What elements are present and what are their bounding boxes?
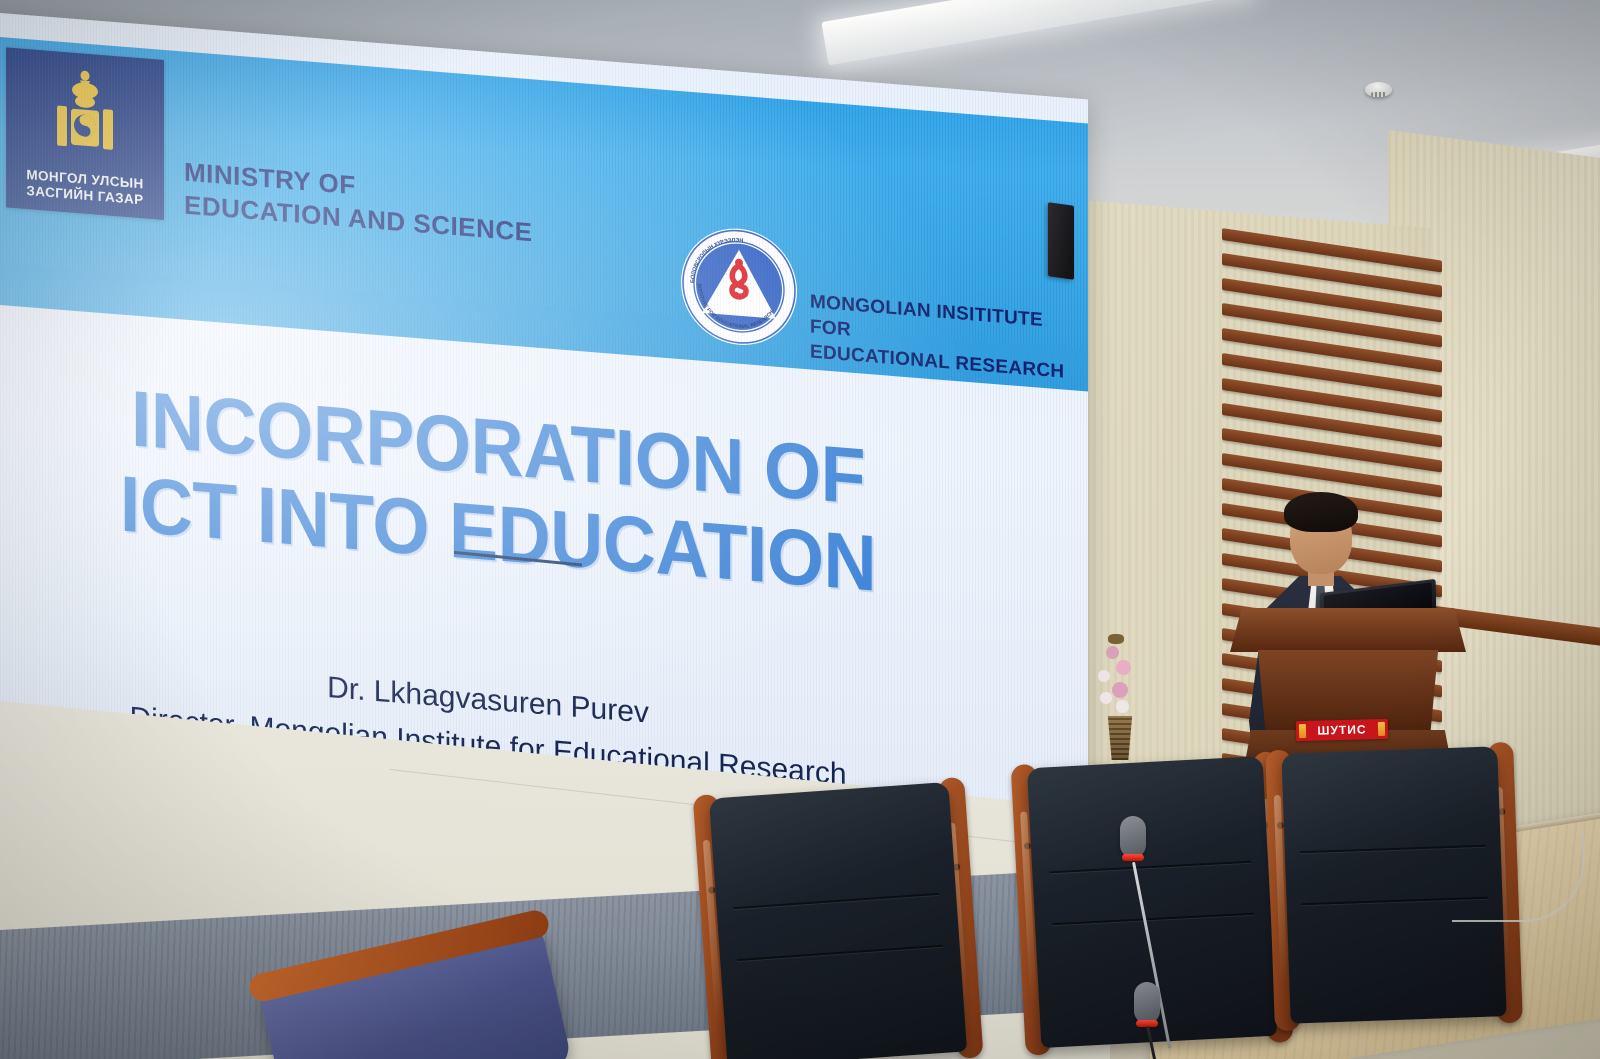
loudspeaker-icon bbox=[1048, 202, 1074, 280]
government-emblem-box: МОНГОЛ УЛСЫН ЗАСГИЙН ГАЗАР bbox=[6, 47, 164, 220]
podium-plate-label: ШУТИС bbox=[1317, 722, 1367, 737]
microphone-indicator-ring bbox=[1122, 854, 1144, 861]
smoke-detector-icon bbox=[1365, 82, 1392, 97]
microphone-head bbox=[1134, 982, 1160, 1024]
microphone-stem bbox=[1146, 1026, 1163, 1059]
plate-ornament-left bbox=[1299, 724, 1306, 738]
blossom bbox=[1098, 670, 1110, 682]
conference-chair bbox=[709, 782, 967, 1059]
mongolian-soyombo-emblem bbox=[39, 64, 131, 155]
microphone-head bbox=[1120, 816, 1146, 858]
plate-ornament-right bbox=[1378, 722, 1385, 736]
flower-arrangement-icon bbox=[1082, 630, 1152, 760]
podium-top bbox=[1230, 608, 1466, 652]
blossom bbox=[1112, 682, 1128, 698]
presentation-photo-scene: МОНГОЛ УЛСЫН ЗАСГИЙН ГАЗАР MINISTRY OF E… bbox=[0, 0, 1600, 1059]
blossom bbox=[1116, 660, 1131, 675]
basket bbox=[1104, 716, 1136, 760]
gooseneck-microphone bbox=[1128, 982, 1218, 1059]
blossom bbox=[1106, 646, 1119, 659]
blossom bbox=[1116, 700, 1129, 713]
blossom bbox=[1100, 692, 1112, 704]
chair-backrest bbox=[709, 782, 967, 1059]
podium-name-plate: ШУТИС bbox=[1296, 719, 1388, 741]
foliage bbox=[1108, 634, 1124, 644]
hair bbox=[1284, 492, 1358, 532]
mongolian-institute-educational-research-seal: БОЛОВСРОЛЫН ХҮРЭЭЛЭН INSTITUTE FOR EDUCA… bbox=[680, 223, 798, 350]
government-emblem-caption: МОНГОЛ УЛСЫН ЗАСГИЙН ГАЗАР bbox=[6, 165, 164, 210]
